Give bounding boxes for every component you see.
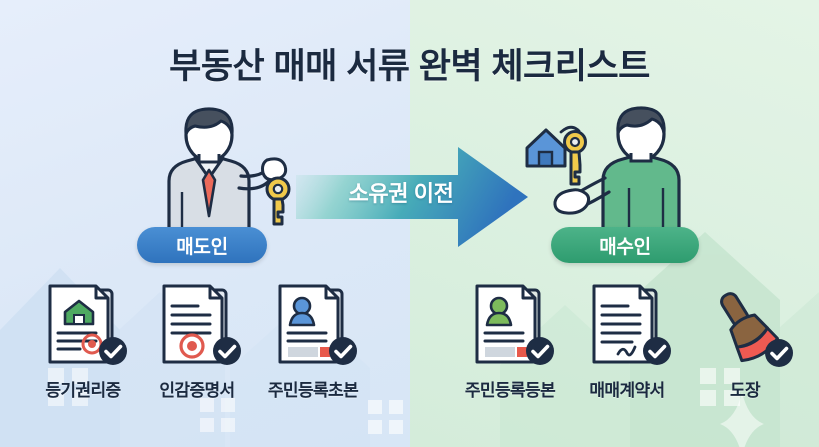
document-signature-icon: [588, 282, 666, 370]
arrow-label: 소유권 이전: [296, 176, 506, 208]
document-label: 인감증명서: [159, 376, 234, 401]
document-item[interactable]: 도장: [690, 282, 800, 412]
buyer-person-icon: [515, 104, 690, 229]
document-house-seal-icon: [44, 282, 122, 370]
document-label: 주민등록등본: [465, 376, 555, 401]
document-person-blue-icon: [274, 282, 352, 370]
document-label: 매매계약서: [589, 376, 664, 401]
document-label: 주민등록초본: [268, 376, 358, 401]
document-item[interactable]: 주민등록등본: [455, 282, 565, 412]
document-item[interactable]: 매매계약서: [572, 282, 682, 412]
check-circle-icon: [98, 336, 128, 366]
infographic-canvas: 부동산 매매 서류 완벽 체크리스트: [0, 0, 819, 447]
check-circle-icon: [328, 336, 358, 366]
document-label: 도장: [730, 376, 760, 401]
check-circle-icon: [212, 336, 242, 366]
page-title: 부동산 매매 서류 완벽 체크리스트: [0, 38, 819, 89]
check-circle-icon: [764, 338, 794, 368]
document-item[interactable]: 인감증명서: [142, 282, 252, 412]
document-person-green-icon: [471, 282, 549, 370]
seller-badge: 매도인: [137, 227, 267, 263]
house-keychain-icon: [527, 127, 586, 184]
stamp-seal-icon: [706, 282, 784, 370]
document-label: 등기권리증: [45, 376, 120, 401]
buyer-badge: 매수인: [551, 227, 699, 263]
check-circle-icon: [642, 336, 672, 366]
seller-person-icon: [135, 104, 300, 229]
document-item[interactable]: 등기권리증: [28, 282, 138, 412]
document-red-seal-icon: [158, 282, 236, 370]
document-item[interactable]: 주민등록초본: [258, 282, 368, 412]
key-icon: [267, 178, 289, 224]
check-circle-icon: [525, 336, 555, 366]
